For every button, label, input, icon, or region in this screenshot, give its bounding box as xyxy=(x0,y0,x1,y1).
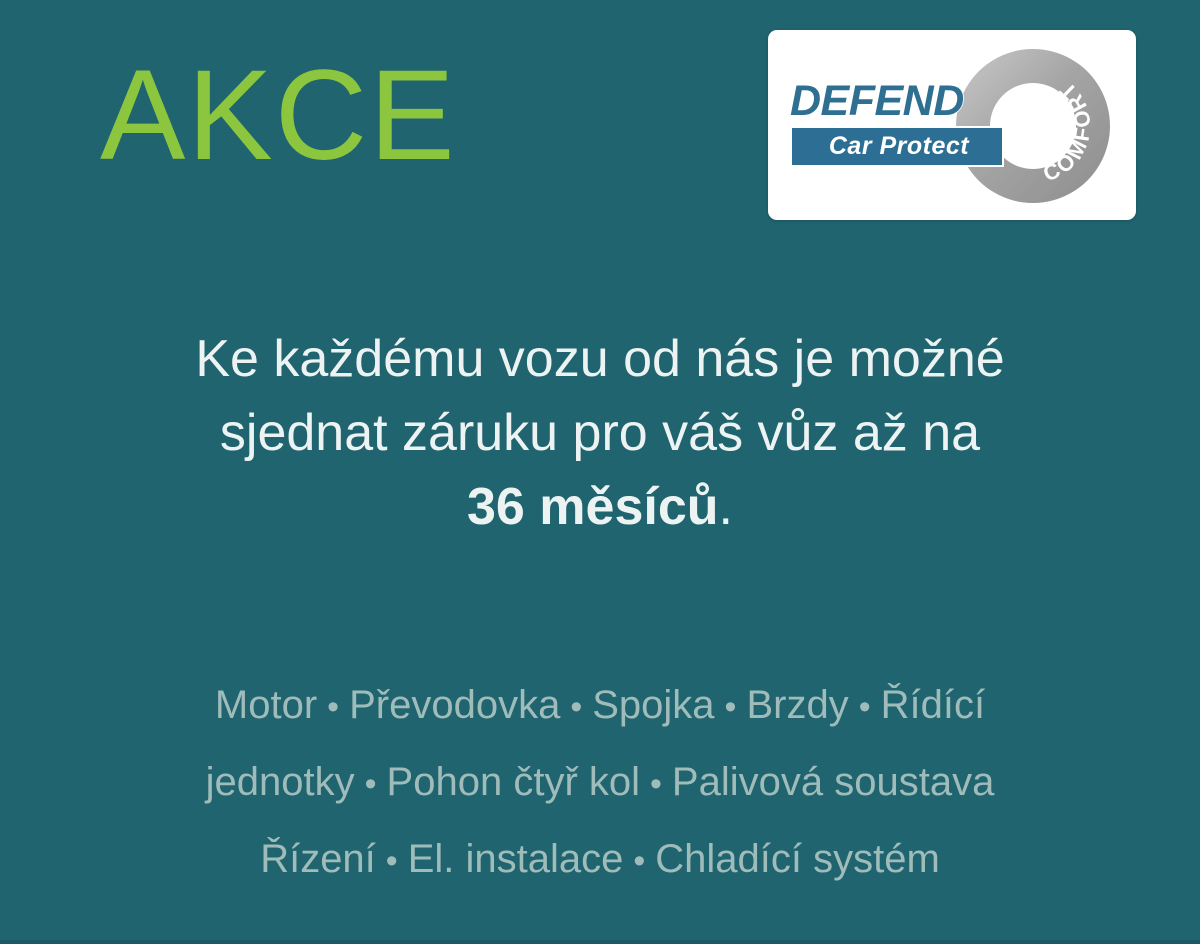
offer-duration: 36 měsíců xyxy=(467,478,719,536)
bullet-separator-icon: • xyxy=(715,670,747,745)
component-line-1: Motor•Převodovka•Spojka•Brzdy•Řídící xyxy=(0,668,1200,745)
bullet-separator-icon: • xyxy=(317,670,349,745)
promo-slide: AKCE COMF xyxy=(0,0,1200,944)
offer-duration-suffix: . xyxy=(719,478,733,536)
offer-message-line-2: sjednat záruku pro váš vůz až na xyxy=(0,396,1200,470)
offer-message-line-1: Ke každému vozu od nás je možné xyxy=(0,322,1200,396)
component-item: jednotky xyxy=(206,760,355,804)
logo-brand: DEFEND xyxy=(790,80,964,123)
component-item: Převodovka xyxy=(349,683,560,727)
component-line-3: Řízení•El. instalace•Chladící systém xyxy=(0,822,1200,899)
bullet-separator-icon: • xyxy=(355,747,387,822)
car-protect-bar: Car Protect xyxy=(790,126,1004,167)
covered-components-list: Motor•Převodovka•Spojka•Brzdy•Řídící jed… xyxy=(0,668,1200,899)
component-item: Řídící xyxy=(881,683,985,727)
page-title: AKCE xyxy=(100,52,457,180)
bullet-separator-icon: • xyxy=(640,747,672,822)
defend-car-protect-logo: COMFORT Car Protect DEFEND xyxy=(768,30,1136,220)
component-item: Spojka xyxy=(592,683,714,727)
component-item: Pohon čtyř kol xyxy=(387,760,640,804)
component-item: Brzdy xyxy=(746,683,848,727)
component-item: Chladící systém xyxy=(655,837,940,881)
bullet-separator-icon: • xyxy=(623,824,655,899)
component-line-2: jednotky•Pohon čtyř kol•Palivová soustav… xyxy=(0,745,1200,822)
component-item: El. instalace xyxy=(408,837,624,881)
bullet-separator-icon: • xyxy=(849,670,881,745)
component-item: Palivová soustava xyxy=(672,760,994,804)
bullet-separator-icon: • xyxy=(560,670,592,745)
offer-message: Ke každému vozu od nás je možné sjednat … xyxy=(0,322,1200,544)
logo-tagline: Car Protect xyxy=(792,128,1006,165)
component-item: Řízení xyxy=(260,837,376,881)
offer-message-line-3: 36 měsíců. xyxy=(0,470,1200,544)
component-item: Motor xyxy=(215,683,317,727)
bullet-separator-icon: • xyxy=(376,824,408,899)
